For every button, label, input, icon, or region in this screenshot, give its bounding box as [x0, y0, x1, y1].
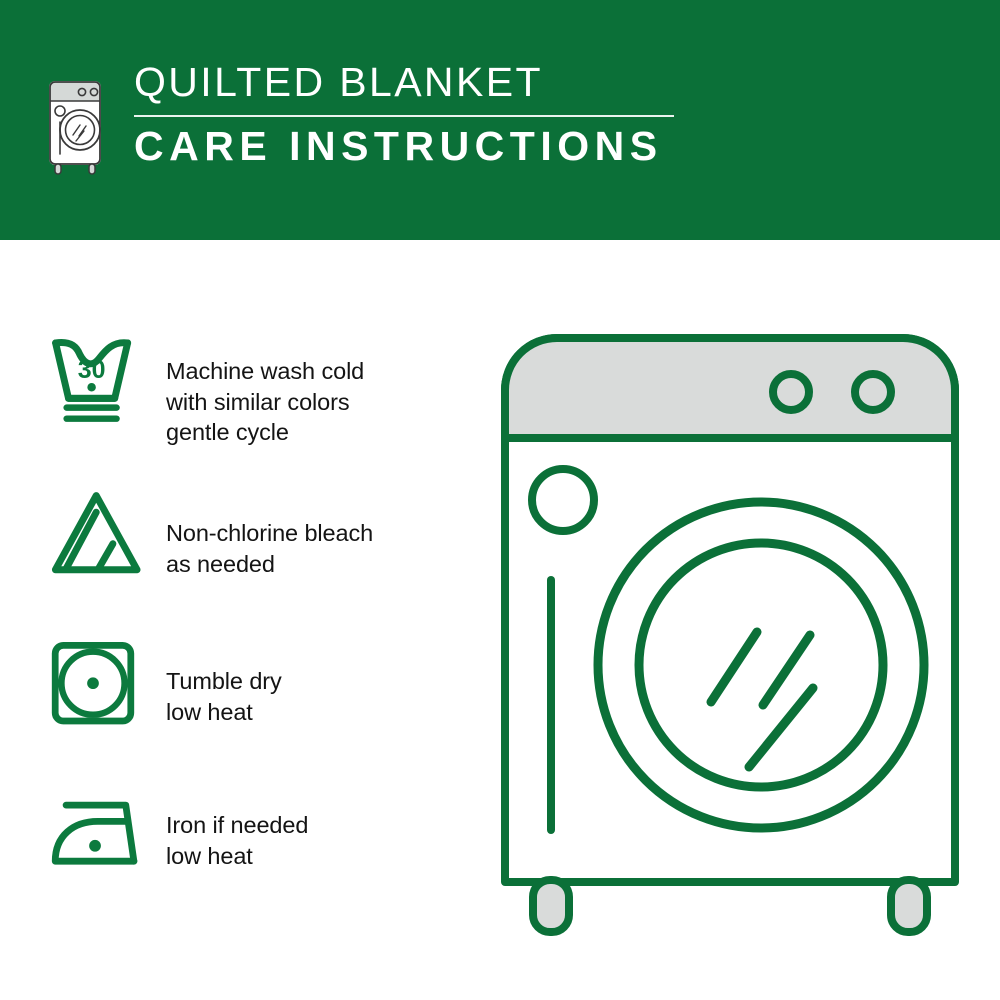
list-item: 30 Machine wash cold with similar colors…	[48, 330, 478, 480]
tumble-dry-low-heat-icon	[48, 630, 166, 730]
instruction-list: 30 Machine wash cold with similar colors…	[48, 330, 478, 930]
list-item-label: Tumble dry low heat	[166, 666, 478, 727]
list-item-label: Iron if needed low heat	[166, 810, 478, 871]
header-text-block: QUILTED BLANKET CARE INSTRUCTIONS	[134, 62, 674, 168]
instruction-text-cell: Iron if needed low heat	[166, 780, 478, 871]
header-band: QUILTED BLANKET CARE INSTRUCTIONS	[0, 0, 1000, 240]
instruction-text-cell: Tumble dry low heat	[166, 630, 478, 727]
header-divider	[134, 115, 674, 117]
list-item: Iron if needed low heat	[48, 780, 478, 930]
list-item: Non-chlorine bleach as needed	[48, 480, 478, 630]
list-item-label: Non-chlorine bleach as needed	[166, 518, 478, 579]
svg-text:30: 30	[78, 356, 106, 384]
page-subtitle: CARE INSTRUCTIONS	[134, 125, 674, 168]
instruction-text-cell: Machine wash cold with similar colors ge…	[166, 330, 478, 448]
washing-machine-illustration	[495, 330, 965, 945]
list-item-label: Machine wash cold with similar colors ge…	[166, 356, 478, 448]
iron-low-heat-icon	[48, 780, 166, 873]
care-instructions-page: QUILTED BLANKET CARE INSTRUCTIONS 30	[0, 0, 1000, 1000]
page-title: QUILTED BLANKET	[134, 62, 674, 113]
washing-machine-icon	[44, 68, 110, 180]
list-item: Tumble dry low heat	[48, 630, 478, 780]
header-content: QUILTED BLANKET CARE INSTRUCTIONS	[44, 62, 674, 180]
non-chlorine-bleach-triangle-icon	[48, 480, 166, 581]
instruction-text-cell: Non-chlorine bleach as needed	[166, 480, 478, 579]
machine-wash-30-gentle-icon: 30	[48, 330, 166, 427]
